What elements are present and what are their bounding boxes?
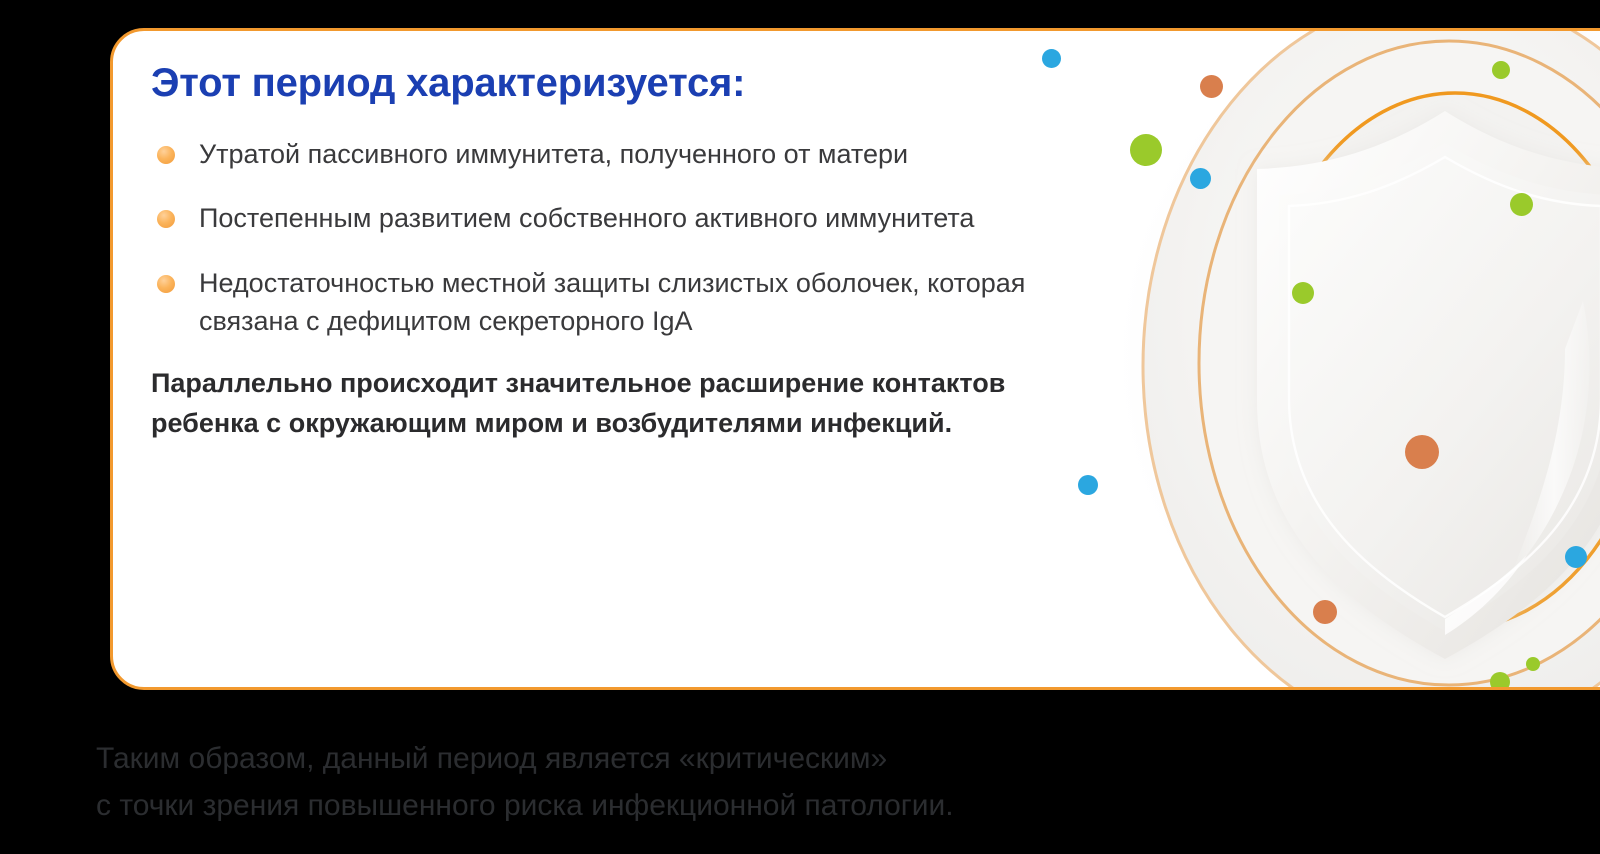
list-item: Утратой пассивного иммунитета, полученно… xyxy=(151,135,1099,173)
emphasis-paragraph: Параллельно происходит значительное расш… xyxy=(151,364,1051,444)
green-scatter-dot xyxy=(1526,657,1540,671)
characteristics-list: Утратой пассивного иммунитета, полученно… xyxy=(151,135,1111,340)
shield-with-orbits-illustration xyxy=(1113,28,1600,690)
blue-scatter-dot xyxy=(1078,475,1098,495)
page-title: Этот период характеризуется: xyxy=(151,61,1111,105)
orange-scatter-dot xyxy=(1313,600,1337,624)
content-card: Этот период характеризуется: Утратой пас… xyxy=(110,28,1600,690)
list-item: Постепенным развитием собственного актив… xyxy=(151,199,1099,237)
green-scatter-dot xyxy=(1492,61,1510,79)
green-scatter-dot xyxy=(1292,282,1314,304)
list-item-label: Постепенным развитием собственного актив… xyxy=(199,203,974,233)
orange-scatter-dot xyxy=(1405,435,1439,469)
caption-line-2: с точки зрения повышенного риска инфекци… xyxy=(96,783,1396,830)
list-item: Недостаточностью местной защиты слизисты… xyxy=(151,264,1099,341)
orange-dot-bullet-icon xyxy=(157,210,175,228)
list-item-label: Утратой пассивного иммунитета, полученно… xyxy=(199,139,908,169)
green-scatter-dot xyxy=(1130,134,1162,166)
caption-line-1: Таким образом, данный период является «к… xyxy=(96,736,1396,783)
green-scatter-dot xyxy=(1510,193,1533,216)
orange-dot-bullet-icon xyxy=(157,146,175,164)
green-scatter-dot xyxy=(1490,672,1510,690)
list-item-label: Недостаточностью местной защиты слизисты… xyxy=(199,268,1025,336)
blue-scatter-dot xyxy=(1565,546,1587,568)
slide-stage: Этот период характеризуется: Утратой пас… xyxy=(0,0,1600,854)
orange-dot-bullet-icon xyxy=(157,275,175,293)
slide-caption: Таким образом, данный период является «к… xyxy=(96,736,1396,829)
card-content: Этот период характеризуется: Утратой пас… xyxy=(151,61,1111,444)
blue-scatter-dot xyxy=(1190,168,1211,189)
orange-scatter-dot xyxy=(1200,75,1223,98)
